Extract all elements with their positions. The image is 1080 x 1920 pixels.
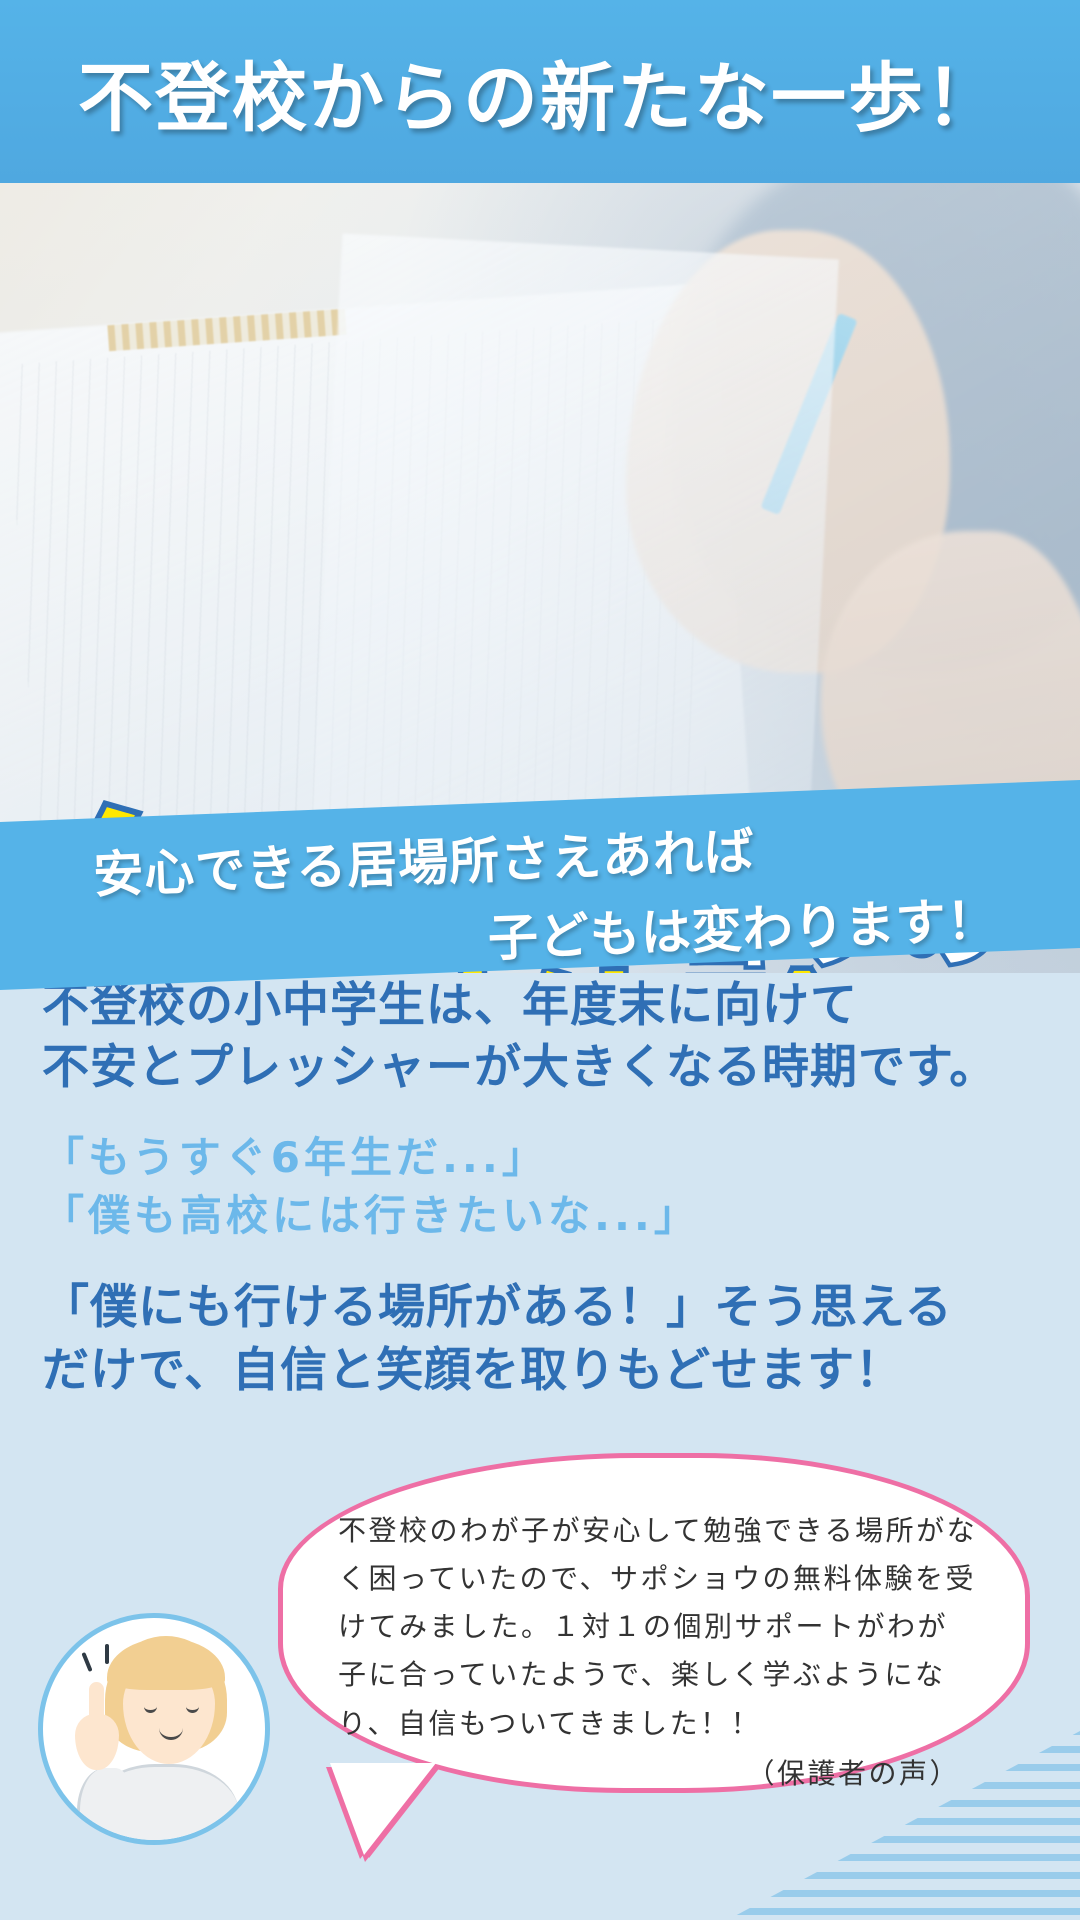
testimonial-attribution: （保護者の声）	[338, 1750, 978, 1798]
student-quote-2: 「僕も高校には行きたいな...」	[42, 1187, 1038, 1245]
sparkle-icon-center	[105, 1644, 109, 1664]
closing-paragraph: 「僕にも行ける場所がある！」そう思える だけで、自信と笑顔を取りもどせます！	[42, 1277, 1038, 1403]
header-title: 不登校からの新たな一歩！	[78, 37, 1002, 146]
testimonial-body: 不登校のわが子が安心して勉強できる場所がなく困っていたので、サポショウの無料体験…	[338, 1514, 977, 1740]
student-quotes: 「もうすぐ6年生だ...」 「僕も高校には行きたいな...」	[42, 1129, 1038, 1245]
avatar-bangs	[107, 1638, 225, 1690]
closing-line-1: 「僕にも行ける場所がある！」そう思える	[42, 1277, 1038, 1340]
testimonial-text-block: 不登校のわが子が安心して勉強できる場所がなく困っていたので、サポショウの無料体験…	[338, 1507, 978, 1798]
body-copy-section: 不登校の小中学生は、年度末に向けて 不安とプレッシャーが大きくなる時期です。 「…	[0, 975, 1080, 1403]
avatar-pointing-finger-icon	[89, 1682, 104, 1726]
student-quote-1: 「もうすぐ6年生だ...」	[42, 1129, 1038, 1187]
testimonial-section: 不登校のわが子が安心して勉強できる場所がなく困っていたので、サポショウの無料体験…	[0, 1445, 1080, 1920]
avatar	[38, 1613, 270, 1845]
sparkle-icon-left	[81, 1652, 92, 1672]
intro-paragraph: 不登校の小中学生は、年度末に向けて 不安とプレッシャーが大きくなる時期です。	[42, 975, 1038, 1099]
page-header: 不登校からの新たな一歩！	[0, 0, 1080, 183]
closing-line-2: だけで、自信と笑顔を取りもどせます！	[42, 1340, 1038, 1403]
intro-line-1: 不登校の小中学生は、年度末に向けて	[42, 975, 1038, 1037]
intro-line-2: 不安とプレッシャーが大きくなる時期です。	[42, 1037, 1038, 1099]
avatar-arm	[77, 1768, 131, 1845]
